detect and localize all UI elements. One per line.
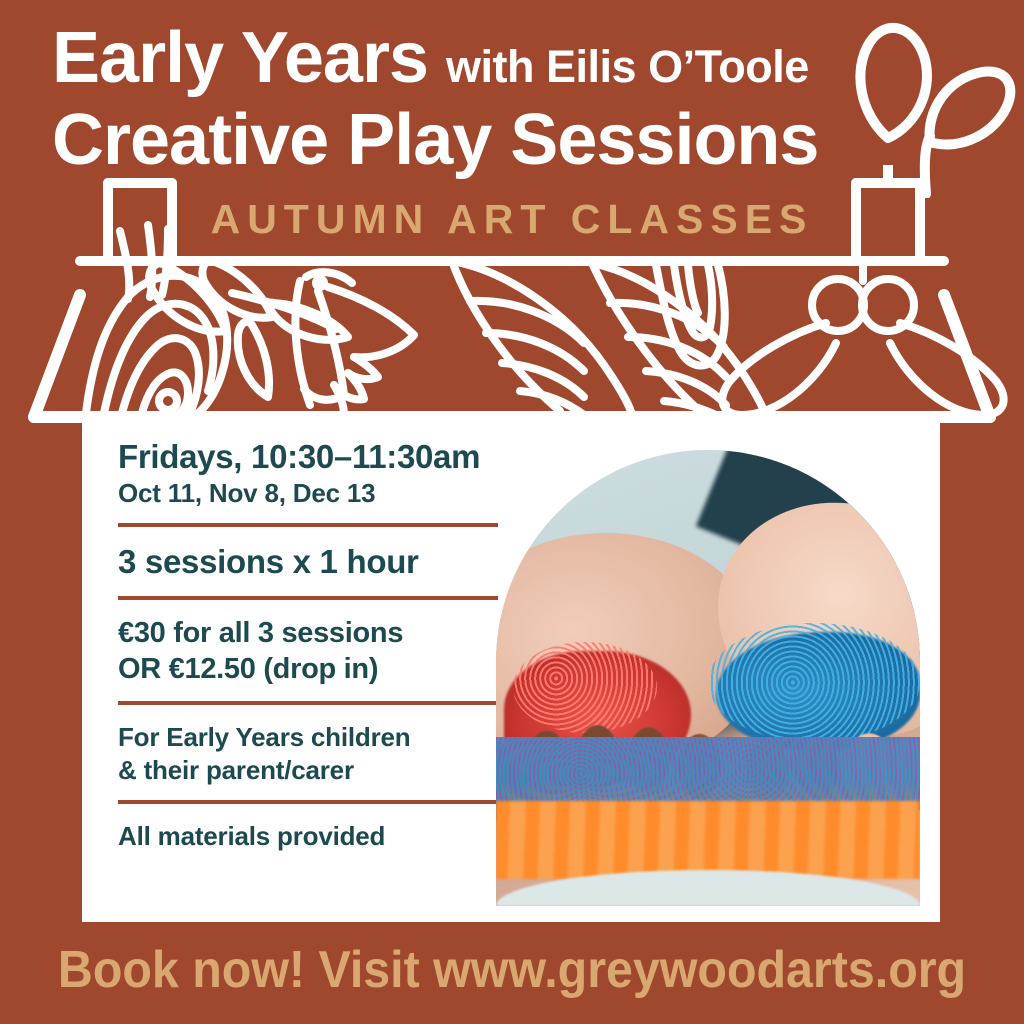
detail-item-materials: All materials provided [118,820,514,853]
detail-item-schedule: Fridays, 10:30–11:30am Oct 11, Nov 8, De… [118,438,514,509]
divider [118,701,498,705]
duration-text: 3 sessions x 1 hour [118,543,514,582]
divider [118,523,498,527]
booking-cta[interactable]: Book now! Visit www.greywoodarts.org [36,940,988,1000]
session-photo [496,450,920,906]
banner-subtitle: AUTUMN ART CLASSES [0,196,1024,243]
instructor-name: with Eilis O’Toole [446,44,809,89]
poster: Early Years with Eilis O’Toole Creative … [0,0,1024,1024]
divider [118,596,498,600]
divider [118,800,498,804]
leaf-sprout-icon [830,18,1020,198]
audience-line-1: For Early Years children [118,721,514,754]
photo-artwork [496,450,920,906]
detail-item-audience: For Early Years children & their parent/… [118,721,514,786]
schedule-time: Fridays, 10:30–11:30am [118,438,514,477]
audience-line-2: & their parent/carer [118,754,514,787]
details-list: Fridays, 10:30–11:30am Oct 11, Nov 8, De… [118,438,514,853]
bellflower-icon [295,272,414,415]
page-title: Early Years [52,22,428,94]
schedule-dates: Oct 11, Nov 8, Dec 13 [118,477,514,510]
detail-item-price: €30 for all 3 sessions OR €12.50 (drop i… [118,616,514,687]
title-line-one: Early Years with Eilis O’Toole [52,22,809,94]
price-full: €30 for all 3 sessions [118,616,514,651]
price-dropin: OR €12.50 (drop in) [118,652,514,687]
details-panel: Fridays, 10:30–11:30am Oct 11, Nov 8, De… [82,418,940,922]
materials-text: All materials provided [118,820,514,853]
detail-item-duration: 3 sessions x 1 hour [118,543,514,582]
